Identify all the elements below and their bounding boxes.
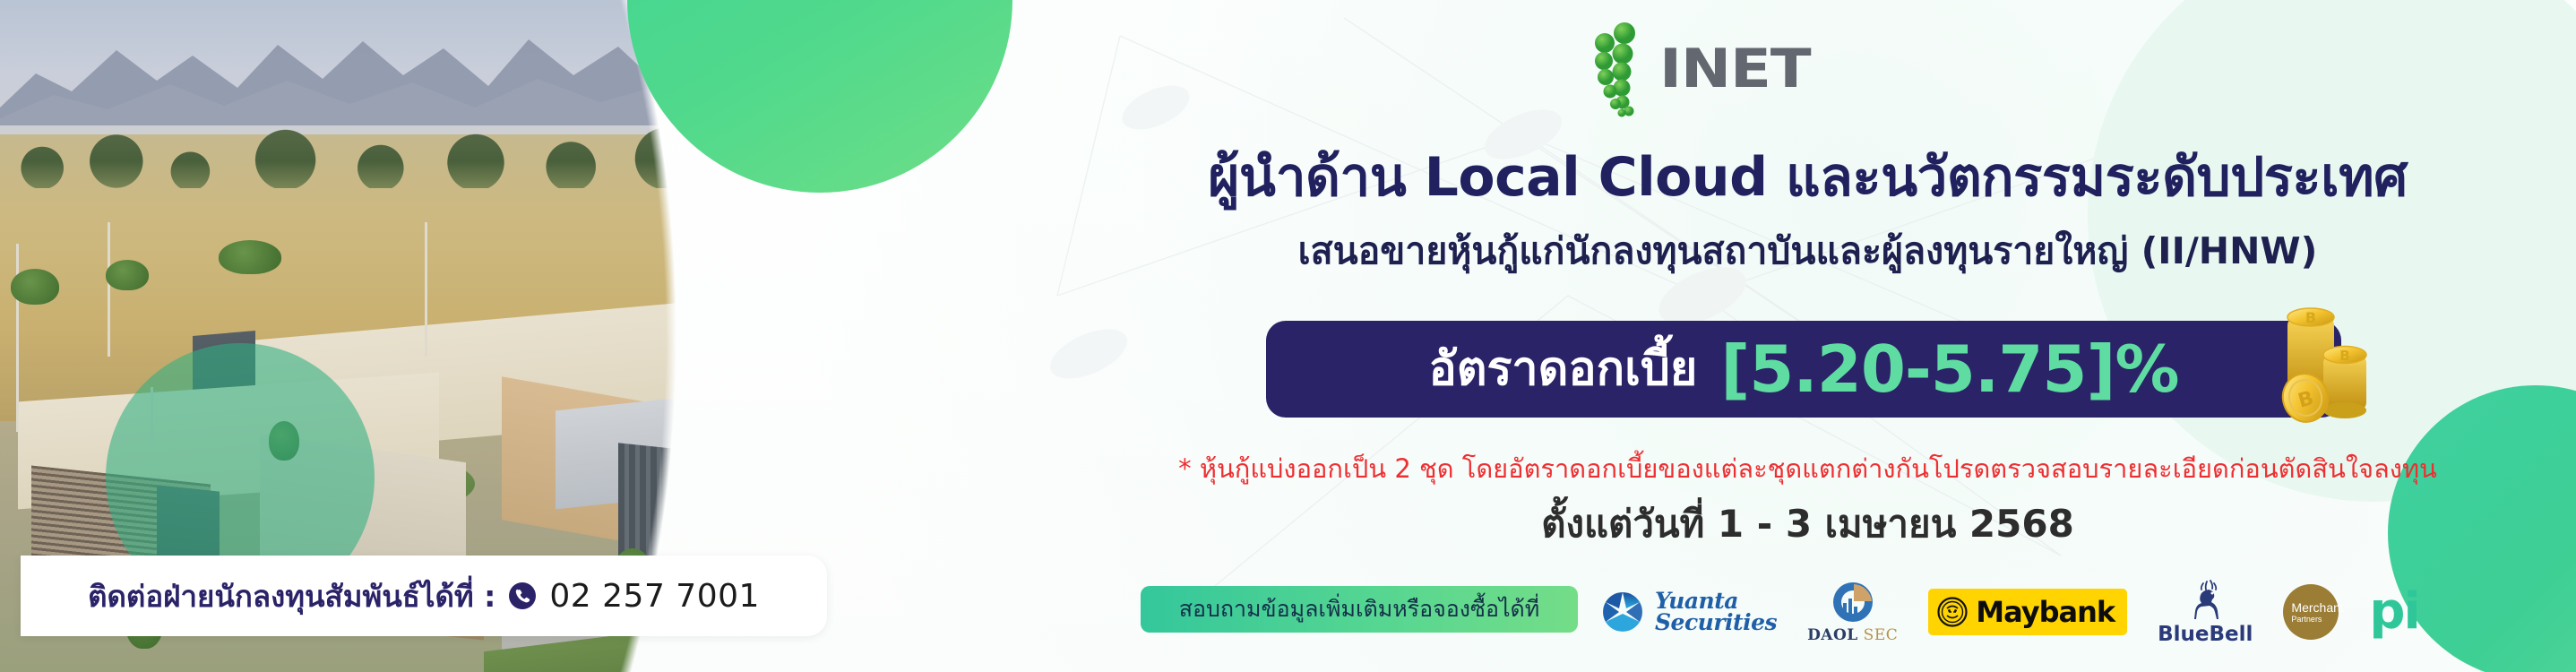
svg-text:B: B (2339, 348, 2349, 364)
inquiry-cta-button[interactable]: สอบถามข้อมูลเพิ่มเติมหรือจองซื้อได้ที่ (1141, 586, 1578, 633)
partner-yuanta[interactable]: Yuanta Securities (1599, 589, 1777, 635)
inet-logo-text: INET (1659, 42, 1811, 96)
daol-text-b: SEC (1864, 626, 1899, 644)
partner-merchant[interactable]: Merchant Partners (2283, 584, 2339, 640)
inet-logo: INET (1588, 20, 1794, 118)
maybank-label: Maybank (1976, 595, 2115, 629)
interest-rate-label: อัตราดอกเบี้ย (1429, 346, 1698, 392)
bluebell-deer-icon (2185, 578, 2225, 621)
partner-daol[interactable]: DAOL SEC (1807, 580, 1898, 644)
inet-dots-logo-icon (1588, 20, 1654, 118)
page-title: ผู้นำด้าน Local Cloud และนวัตกรรมระดับปร… (1039, 134, 2576, 220)
pi-label: pi (2369, 592, 2418, 633)
maybank-tiger-icon (1937, 597, 1968, 627)
merchant-line1: Merchant (2291, 600, 2343, 615)
page-subtitle: เสนอขายหุ้นกู้แก่นักลงทุนสถาบันและผู้ลงท… (1039, 222, 2576, 280)
investor-relations-contact: ติดต่อฝ่ายนักลงทุนสัมพันธ์ได้ที่ : 02 25… (21, 556, 827, 636)
interest-rate-box: อัตราดอกเบี้ย [5.20-5.75]% (1266, 321, 2341, 418)
gold-coins-icon: B B B (2253, 292, 2388, 435)
partner-pi[interactable]: pi (2369, 592, 2418, 633)
contact-label: ติดต่อฝ่ายนักลงทุนสัมพันธ์ได้ที่ : (88, 573, 495, 620)
partner-logos: Yuanta Securities DAOL SEC (1599, 573, 2495, 650)
promo-banner: INET ผู้นำด้าน Local Cloud และนวัตกรรมระ… (0, 0, 2576, 672)
merchant-circle-icon: Merchant Partners (2283, 584, 2339, 640)
offer-period-text: ตั้งแต่วันที่ 1 - 3 เมษายน 2568 (1039, 495, 2576, 554)
inquiry-cta-label: สอบถามข้อมูลเพิ่มเติมหรือจองซื้อได้ที่ (1179, 591, 1540, 627)
merchant-line2: Partners (2291, 615, 2322, 624)
phone-icon (508, 582, 537, 610)
yuanta-line2: Securities (1655, 612, 1777, 633)
yuanta-star-icon (1599, 589, 1646, 635)
daol-text-a: DAOL (1807, 626, 1858, 644)
content-column: INET ผู้นำด้าน Local Cloud และนวัตกรรมระ… (1039, 0, 2576, 672)
interest-rate-value: [5.20-5.75]% (1720, 337, 2178, 401)
disclaimer-text: * หุ้นกู้แบ่งออกเป็น 2 ชุด โดยอัตราดอกเบ… (1039, 448, 2576, 489)
daol-circle-icon (1829, 580, 1877, 625)
contact-phone-number: 02 257 7001 (549, 578, 760, 615)
partner-maybank[interactable]: Maybank (1928, 589, 2127, 635)
svg-text:B: B (2305, 309, 2316, 326)
partner-bluebell[interactable]: BlueBell (2158, 578, 2253, 646)
bluebell-label: BlueBell (2158, 623, 2253, 646)
